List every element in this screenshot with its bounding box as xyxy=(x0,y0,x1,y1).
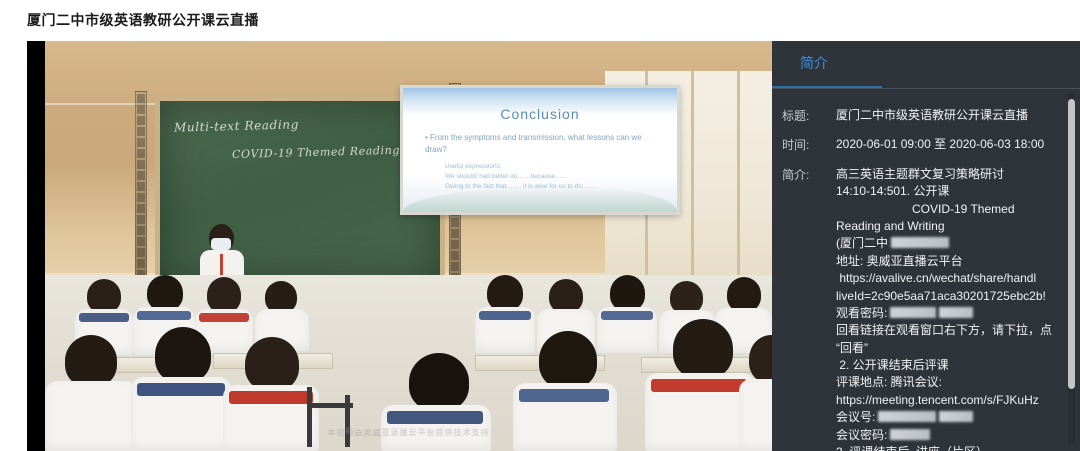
panel-tab-bar: 简介 xyxy=(772,41,1080,89)
chair-leg xyxy=(307,387,312,447)
desc-line-8: liveId=2c90e5aa71aca30201725ebc2b! xyxy=(836,288,1060,305)
field-time-label: 时间: xyxy=(780,136,836,153)
desc-line-11: “回看” xyxy=(836,340,1060,357)
desc-line-13: 评课地点: 腾讯会议: xyxy=(836,374,1060,391)
projection-screen: Conclusion • From the symptoms and trans… xyxy=(400,85,680,215)
field-description-label: 简介: xyxy=(780,166,836,451)
slide-sub-line-1: Useful expressions: xyxy=(445,162,667,172)
chair-rail xyxy=(307,403,353,408)
desc-line-9: 观看密码: xyxy=(836,305,1060,322)
desc-line-5-text: (厦门二中 xyxy=(836,236,888,250)
desc-line-17: 3. 评课结束后 讲座（片区） xyxy=(836,444,1060,451)
desc-line-15: 会议号: xyxy=(836,409,1060,426)
desc-line-2: 14:10-14:501. 公开课 xyxy=(836,183,1060,200)
redacted-watch-password xyxy=(890,307,936,318)
desc-line-9-text: 观看密码: xyxy=(836,306,887,320)
desc-line-4: Reading and Writing xyxy=(836,218,1060,235)
desc-line-15-text: 会议号: xyxy=(836,410,875,424)
video-stage[interactable]: Multi-text Reading COVID-19 Themed Readi… xyxy=(27,41,772,451)
field-time-value: 2020-06-01 09:00 至 2020-06-03 18:00 xyxy=(836,136,1060,153)
video-frame[interactable]: Multi-text Reading COVID-19 Themed Readi… xyxy=(45,41,772,451)
field-title-label: 标题: xyxy=(780,107,836,124)
desc-line-14: https://meeting.tencent.com/s/FJKuHz xyxy=(836,392,1060,409)
field-time-row: 时间: 2020-06-01 09:00 至 2020-06-03 18:00 xyxy=(780,136,1060,153)
panel-scrollbar-thumb[interactable] xyxy=(1068,99,1075,389)
teacher-face-mask xyxy=(211,238,231,250)
redacted-meeting-id xyxy=(878,411,936,422)
desc-line-6: 地址: 奥威亚直播云平台 xyxy=(836,253,1060,270)
desc-line-12: 2. 公开课结束后评课 xyxy=(836,357,1060,374)
field-description-row: 简介: 高三英语主题群文复习策略研讨 14:10-14:501. 公开课 COV… xyxy=(780,166,1060,451)
slide-sub-line-2: We should/ had better do……because…… xyxy=(445,172,667,182)
students-area xyxy=(45,275,772,451)
desc-line-1: 高三英语主题群文复习策略研讨 xyxy=(836,166,1060,183)
redacted-meeting-id-2 xyxy=(939,411,973,422)
redacted-watch-password-2 xyxy=(939,307,973,318)
redacted-meeting-password xyxy=(890,429,930,440)
desc-line-16: 会议密码: xyxy=(836,427,1060,444)
tab-active-indicator xyxy=(772,86,882,88)
panel-scrollbar-track[interactable] xyxy=(1068,93,1075,445)
field-title-row: 标题: 厦门二中市级英语教研公开课云直播 xyxy=(780,107,1060,124)
desc-line-16-text: 会议密码: xyxy=(836,428,887,442)
blackboard-rail-left xyxy=(135,91,147,296)
live-stream-page: 厦门二中市级英语教研公开课云直播 Multi-text Reading COVI… xyxy=(0,0,1080,451)
desc-line-10: 回看链接在观看窗口右下方，请下拉，点 xyxy=(836,322,1060,339)
video-watermark: 本视频由奥威亚录播云平台提供技术支持 xyxy=(45,426,772,437)
redacted-school-info xyxy=(891,237,949,248)
slide-bullet: • From the symptoms and transmission, wh… xyxy=(425,132,663,156)
panel-body: 标题: 厦门二中市级英语教研公开课云直播 时间: 2020-06-01 09:0… xyxy=(772,89,1080,451)
desc-line-7: https://avalive.cn/wechat/share/handl xyxy=(836,270,1060,287)
field-description-value: 高三英语主题群文复习策略研讨 14:10-14:501. 公开课 COVID-1… xyxy=(836,166,1060,451)
tab-intro[interactable]: 简介 xyxy=(800,53,828,85)
blackboard-line-1: Multi-text Reading xyxy=(174,117,299,134)
field-title-value: 厦门二中市级英语教研公开课云直播 xyxy=(836,107,1060,124)
desc-line-3: COVID-19 Themed xyxy=(836,201,1060,218)
info-panel: 简介 标题: 厦门二中市级英语教研公开课云直播 时间: 2020-06-01 0… xyxy=(772,41,1080,451)
slide-title: Conclusion xyxy=(403,106,677,122)
page-title: 厦门二中市级英语教研公开课云直播 xyxy=(27,10,259,30)
desc-line-5: (厦门二中 xyxy=(836,235,1060,252)
